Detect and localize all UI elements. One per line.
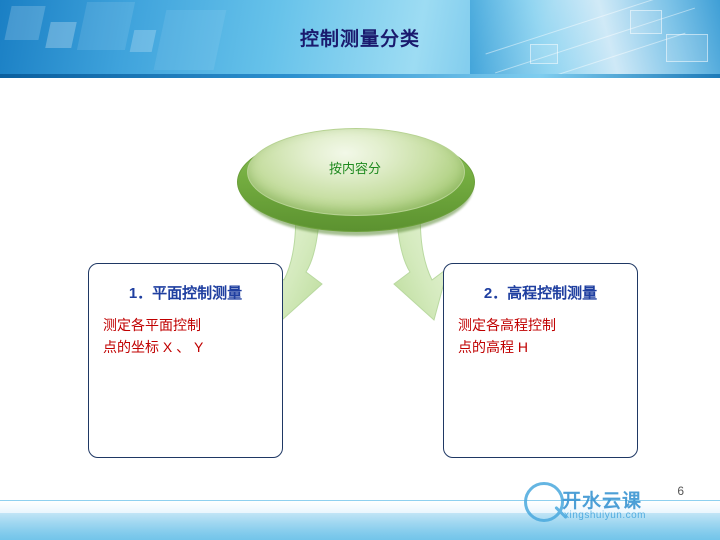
- branch-left-title: 1．平面控制测量: [89, 282, 282, 303]
- branch-box-right: 2．高程控制测量 测定各高程控制 点的高程 H: [443, 263, 638, 458]
- slide-header-banner: 控制测量分类: [0, 0, 720, 78]
- watermark-domain: xingshuiyun.com: [564, 510, 646, 521]
- page-number: 6: [677, 484, 684, 498]
- slide-canvas: 控制测量分类: [0, 0, 720, 540]
- watermark-logo: 开水云课 xingshuiyun.com: [518, 478, 698, 534]
- branch-right-body-line2: 点的高程 H: [458, 336, 626, 358]
- slide-content-area: 按内容分 1．平面控制测量 测定各平面控制 点的坐标 X 、 Y 2．高程控制测…: [0, 78, 720, 540]
- branch-right-body-line1: 测定各高程控制: [458, 314, 626, 336]
- branch-left-body-line2: 点的坐标 X 、 Y: [103, 336, 271, 358]
- branch-left-number: 1．: [129, 285, 152, 302]
- branch-left-title-text: 平面控制测量: [152, 285, 242, 302]
- branch-right-title-text: 高程控制测量: [507, 285, 597, 302]
- branch-right-number: 2．: [484, 285, 507, 302]
- page-title: 控制测量分类: [0, 24, 720, 51]
- root-node-label: 按内容分: [237, 158, 473, 177]
- branch-box-left: 1．平面控制测量 测定各平面控制 点的坐标 X 、 Y: [88, 263, 283, 458]
- branch-right-body: 测定各高程控制 点的高程 H: [458, 314, 626, 358]
- branch-left-body-line1: 测定各平面控制: [103, 314, 271, 336]
- root-node-ellipse: 按内容分: [237, 128, 477, 238]
- branch-right-title: 2．高程控制测量: [444, 282, 637, 303]
- branch-left-body: 测定各平面控制 点的坐标 X 、 Y: [103, 314, 271, 358]
- watermark-brand: 开水云课: [562, 486, 642, 513]
- magnifier-icon: [524, 482, 564, 522]
